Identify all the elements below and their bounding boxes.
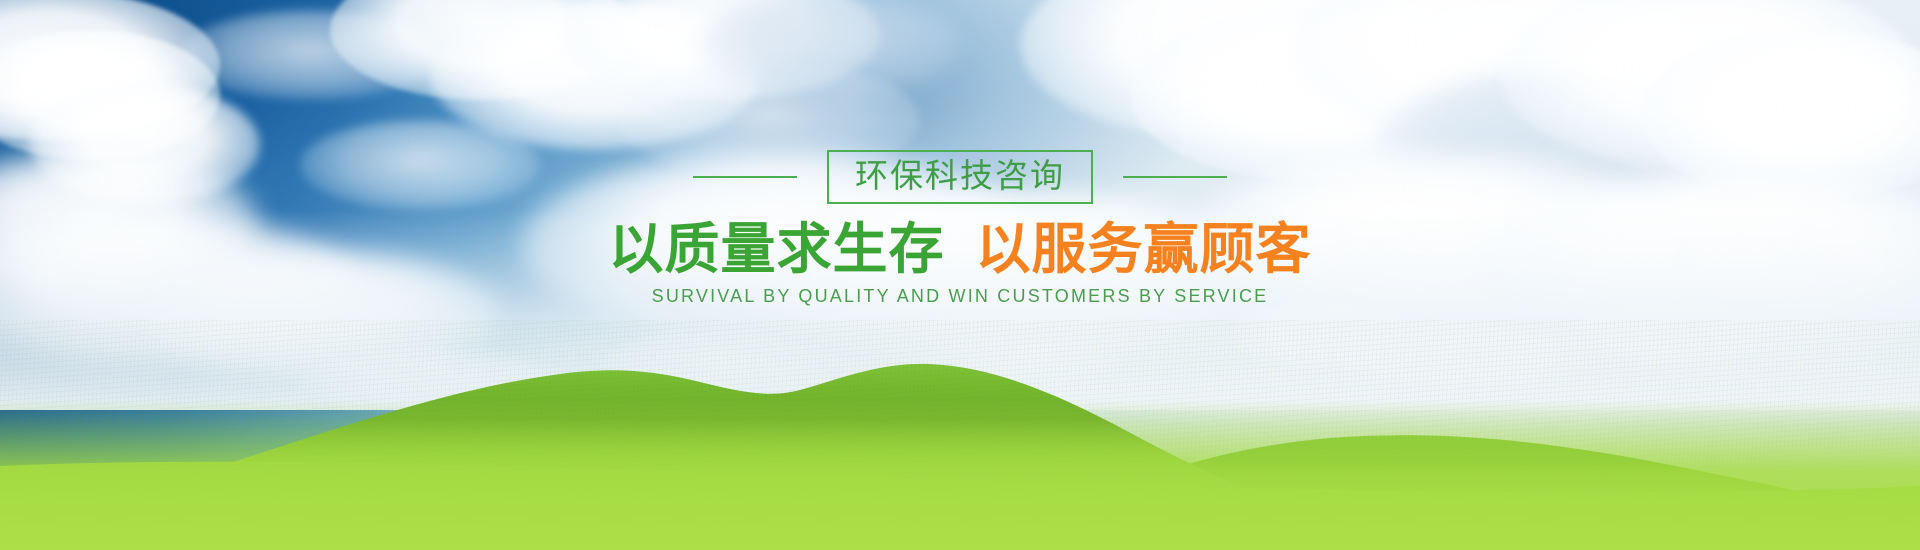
- left-rule-divider: [693, 176, 797, 178]
- headline-green-part: 以质量求生存: [609, 218, 945, 280]
- headline: 以质量求生存 以服务赢顾客: [0, 222, 1920, 277]
- hero-banner: 环保科技咨询 以质量求生存 以服务赢顾客 SURVIVAL BY QUALITY…: [0, 0, 1920, 550]
- subheadline-text: SURVIVAL BY QUALITY AND WIN CUSTOMERS BY…: [652, 286, 1269, 306]
- badge-box: 环保科技咨询: [827, 150, 1093, 204]
- right-rule-divider: [1123, 176, 1227, 178]
- badge-label: 环保科技咨询: [855, 159, 1065, 192]
- grass-hills: [0, 290, 1920, 550]
- eyebrow-row: 环保科技咨询: [0, 150, 1920, 204]
- subheadline: SURVIVAL BY QUALITY AND WIN CUSTOMERS BY…: [0, 286, 1920, 307]
- headline-orange-part: 以服务赢顾客: [975, 218, 1311, 280]
